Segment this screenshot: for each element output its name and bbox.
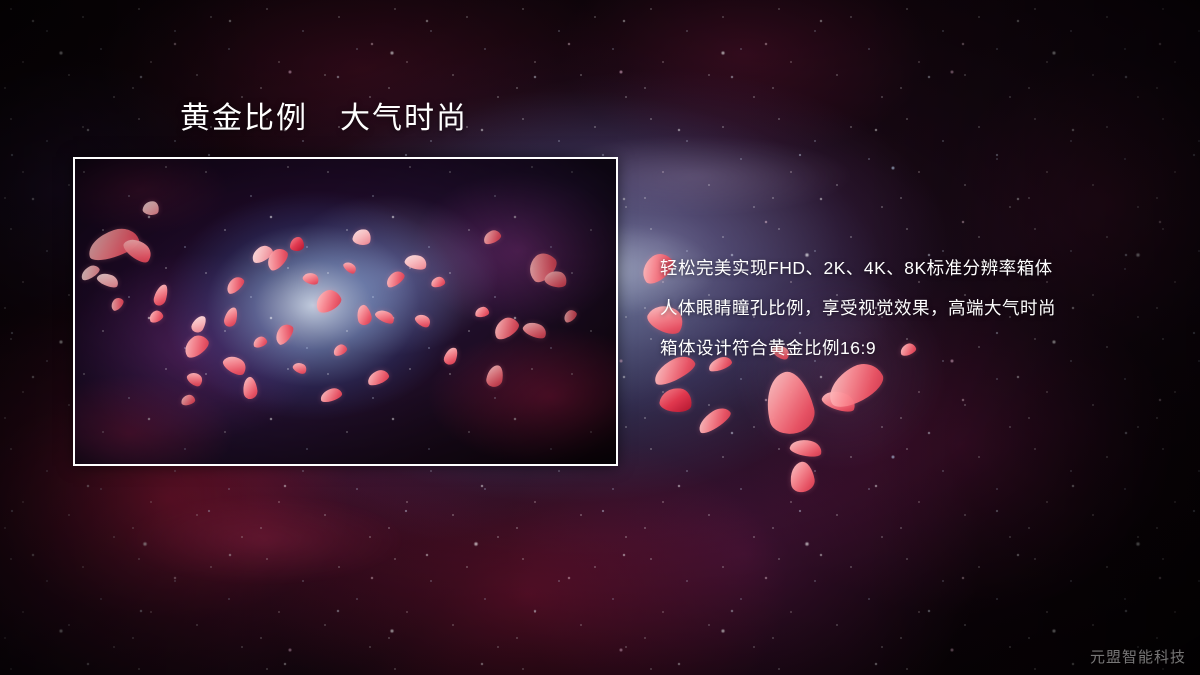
- description-line-1: 轻松完美实现FHD、2K、4K、8K标准分辨率箱体: [660, 258, 1180, 280]
- galaxy-petals-preview-panel: [73, 157, 618, 466]
- panel-vignette: [75, 159, 616, 464]
- description-line-3: 箱体设计符合黄金比例16:9: [660, 338, 1180, 360]
- description-line-2: 人体眼睛瞳孔比例，享受视觉效果，高端大气时尚: [660, 298, 1180, 320]
- company-watermark: 元盟智能科技: [1090, 646, 1186, 667]
- presentation-slide: 黄金比例 大气时尚: [0, 0, 1200, 675]
- feature-description-block: 轻松完美实现FHD、2K、4K、8K标准分辨率箱体 人体眼睛瞳孔比例，享受视觉效…: [660, 258, 1180, 360]
- page-title: 黄金比例 大气时尚: [180, 102, 468, 135]
